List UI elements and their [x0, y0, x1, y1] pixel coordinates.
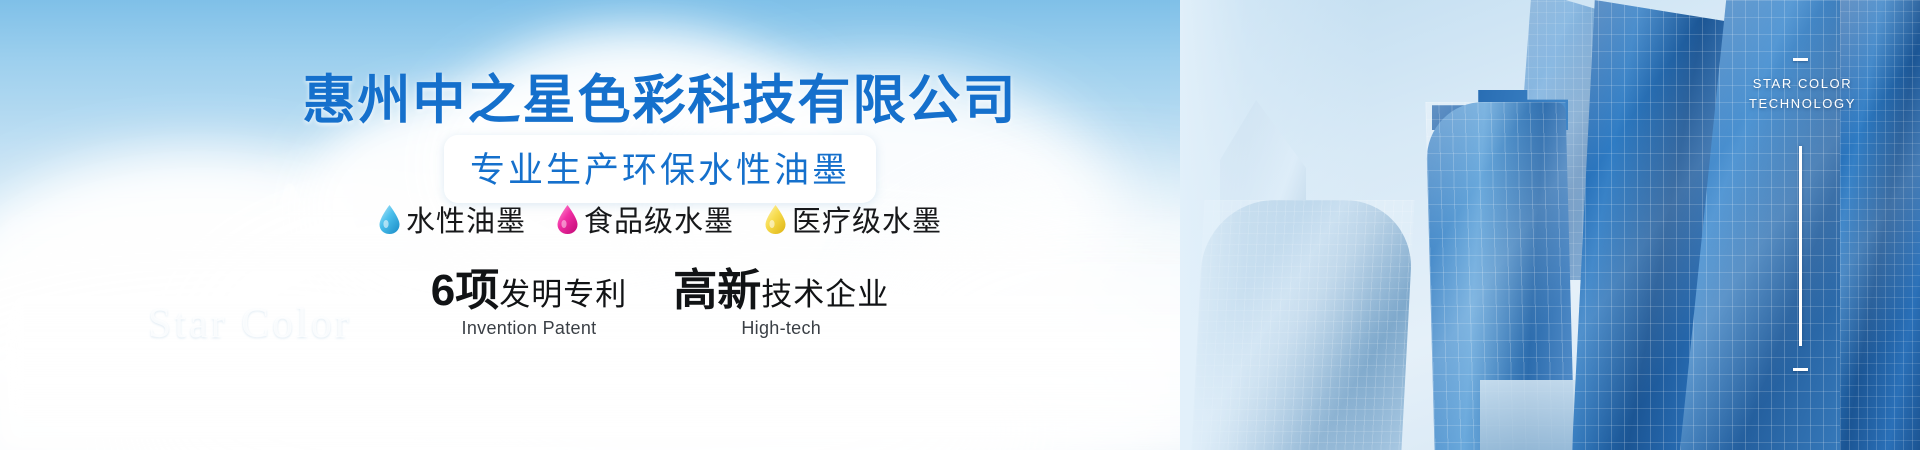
- credential-item: 6项发明专利 Invention Patent: [431, 268, 627, 339]
- credential-item: 高新技术企业 High-tech: [673, 268, 889, 339]
- credential-emphasis: 高新: [673, 266, 761, 315]
- credential-rest: 技术企业: [761, 277, 889, 312]
- tagline-container: 专业生产环保水性油墨: [0, 135, 1320, 203]
- product-tag: 医疗级水墨: [764, 198, 942, 240]
- credentials-list: 6项发明专利 Invention Patent 高新技术企业 High-tech: [0, 268, 1320, 339]
- building-brand-line1: STAR COLOR: [1749, 74, 1856, 94]
- accent-dash-bottom: [1793, 368, 1808, 371]
- water-drop-icon: [378, 204, 401, 235]
- water-drop-icon: [556, 204, 579, 235]
- product-tag-label: 医疗级水墨: [792, 198, 942, 240]
- banner-content: 惠州中之星色彩科技有限公司 专业生产环保水性油墨 水性油墨: [0, 0, 1320, 450]
- credential-chinese: 高新技术企业: [673, 268, 889, 314]
- product-tag-label: 水性油墨: [406, 198, 526, 240]
- building-brand-label: STAR COLOR TECHNOLOGY: [1749, 74, 1856, 114]
- credential-english: Invention Patent: [431, 318, 627, 339]
- accent-vertical-line: [1799, 146, 1802, 346]
- promo-banner: Star Color STAR COLOR: [0, 0, 1920, 450]
- product-tag: 水性油墨: [378, 198, 526, 240]
- product-tag-label: 食品级水墨: [584, 198, 734, 240]
- credential-rest: 发明专利: [499, 277, 627, 312]
- product-tag: 食品级水墨: [556, 198, 734, 240]
- accent-dash-top: [1793, 58, 1808, 61]
- tagline-pill: 专业生产环保水性油墨: [444, 135, 876, 203]
- credential-emphasis: 6项: [431, 266, 499, 315]
- product-tag-list: 水性油墨 食品级水墨: [0, 198, 1320, 240]
- building-brand-line2: TECHNOLOGY: [1749, 94, 1856, 114]
- credential-chinese: 6项发明专利: [431, 268, 627, 314]
- company-title: 惠州中之星色彩科技有限公司: [0, 58, 1320, 134]
- credential-english: High-tech: [673, 318, 889, 339]
- water-drop-icon: [764, 204, 787, 235]
